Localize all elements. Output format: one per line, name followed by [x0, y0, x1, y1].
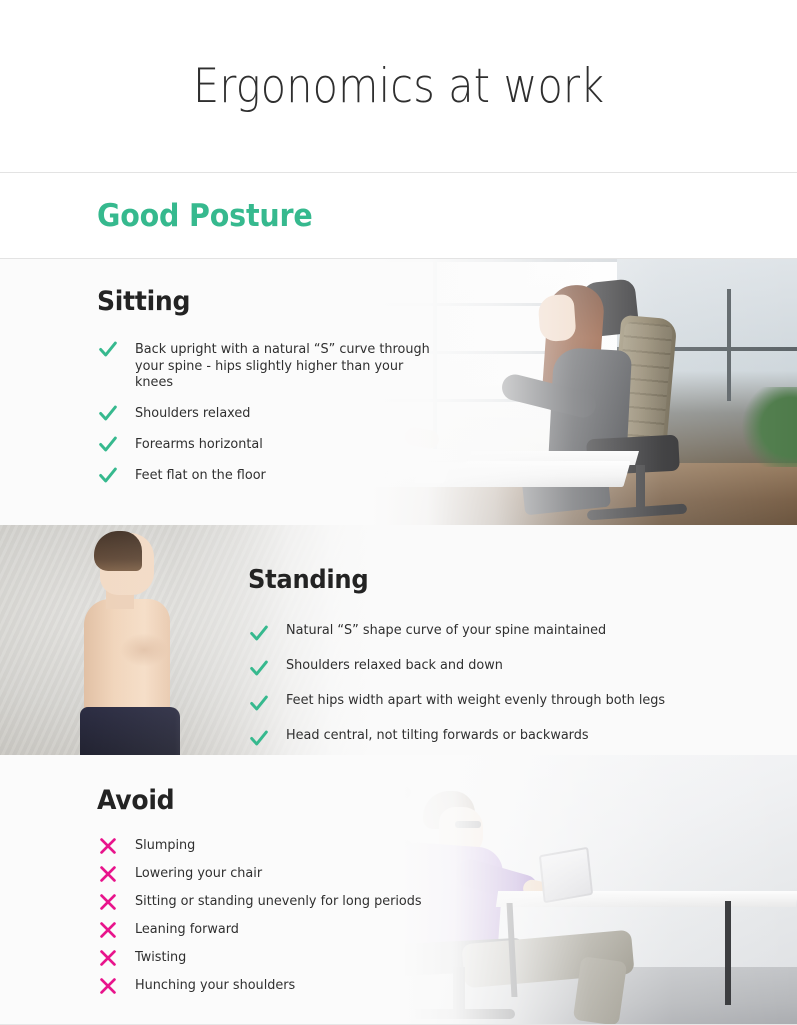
check-icon: [248, 622, 270, 644]
list-item-label: Twisting: [135, 949, 186, 966]
good-posture-heading: Good Posture: [97, 198, 313, 234]
list-item-label: Natural “S” shape curve of your spine ma…: [286, 622, 606, 639]
list-item: Slumping: [97, 837, 497, 857]
list-item: Forearms horizontal: [97, 436, 447, 455]
list-item: Leaning forward: [97, 921, 497, 941]
page-title: Ergonomics at work: [193, 63, 604, 110]
list-item: Back upright with a natural “S” curve th…: [97, 341, 447, 391]
avoid-list: Slumping Lowering your chair Sitting or …: [97, 837, 497, 997]
list-item-label: Shoulders relaxed back and down: [286, 657, 503, 674]
sitting-list: Back upright with a natural “S” curve th…: [97, 341, 447, 486]
list-item-label: Forearms horizontal: [135, 436, 263, 453]
cross-icon: [97, 947, 119, 969]
standing-section: Standing Natural “S” shape curve of your…: [0, 525, 797, 755]
list-item: Lowering your chair: [97, 865, 497, 885]
check-icon: [248, 727, 270, 749]
list-item: Hunching your shoulders: [97, 977, 497, 997]
good-posture-band: Good Posture: [0, 173, 797, 258]
check-icon: [97, 433, 119, 455]
avoid-title: Avoid: [97, 785, 469, 816]
list-item: Shoulders relaxed back and down: [248, 657, 768, 679]
list-item-label: Sitting or standing unevenly for long pe…: [135, 893, 422, 910]
cross-icon: [97, 863, 119, 885]
cross-icon: [97, 835, 119, 857]
avoid-section: Avoid Slumping Lowering your chair Sitti…: [0, 755, 797, 1025]
check-icon: [248, 657, 270, 679]
cross-icon: [97, 891, 119, 913]
list-item-label: Back upright with a natural “S” curve th…: [135, 341, 431, 391]
list-item-label: Leaning forward: [135, 921, 239, 938]
list-item-label: Slumping: [135, 837, 195, 854]
check-icon: [97, 402, 119, 424]
sitting-title: Sitting: [97, 286, 423, 317]
list-item-label: Feet flat on the floor: [135, 467, 266, 484]
page-header: Ergonomics at work: [0, 0, 797, 172]
list-item: Natural “S” shape curve of your spine ma…: [248, 622, 768, 644]
check-icon: [248, 692, 270, 714]
list-item: Sitting or standing unevenly for long pe…: [97, 893, 497, 913]
cross-icon: [97, 919, 119, 941]
list-item-label: Feet hips width apart with weight evenly…: [286, 692, 665, 709]
list-item-label: Hunching your shoulders: [135, 977, 295, 994]
sitting-section: Sitting Back upright with a natural “S” …: [0, 259, 797, 525]
avoid-content: Avoid Slumping Lowering your chair Sitti…: [97, 785, 497, 1005]
cross-icon: [97, 975, 119, 997]
list-item-label: Shoulders relaxed: [135, 405, 250, 422]
standing-list: Natural “S” shape curve of your spine ma…: [248, 622, 768, 749]
sitting-content: Sitting Back upright with a natural “S” …: [97, 286, 447, 498]
list-item: Feet flat on the floor: [97, 467, 447, 486]
standing-title: Standing: [248, 565, 732, 595]
list-item: Feet hips width apart with weight evenly…: [248, 692, 768, 714]
check-icon: [97, 464, 119, 486]
list-item: Twisting: [97, 949, 497, 969]
list-item: Head central, not tilting forwards or ba…: [248, 727, 768, 749]
standing-content: Standing Natural “S” shape curve of your…: [248, 565, 768, 755]
list-item-label: Head central, not tilting forwards or ba…: [286, 727, 589, 744]
list-item: Shoulders relaxed: [97, 405, 447, 424]
list-item-label: Lowering your chair: [135, 865, 262, 882]
check-icon: [97, 338, 119, 360]
